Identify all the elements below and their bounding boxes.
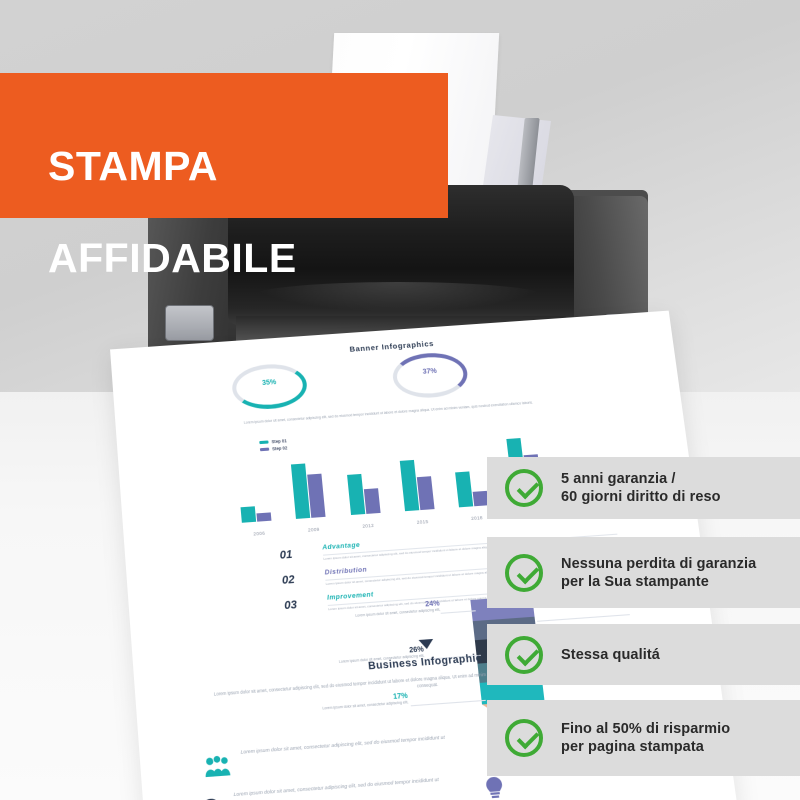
benefit-line-1a: 5 anni garanzia / bbox=[561, 471, 676, 487]
step-number-02: 02 bbox=[281, 574, 295, 587]
bar-step-01 bbox=[240, 506, 256, 523]
bar-step-01 bbox=[455, 471, 473, 507]
bar-year-label: 2009 bbox=[291, 525, 336, 533]
bar-step-02 bbox=[364, 488, 381, 514]
pencil-leader-right-1 bbox=[537, 614, 630, 622]
bar-year-label: 2006 bbox=[237, 529, 282, 537]
benefit-box-2[interactable]: Nessuna perdita di garanzia per la Sua s… bbox=[487, 537, 800, 608]
benefit-line-4a: Fino al 50% di risparmio bbox=[561, 721, 730, 737]
step-heading-01: Advantage bbox=[322, 542, 360, 552]
check-circle-icon bbox=[505, 719, 543, 757]
benefit-line-3a: Stessa qualitá bbox=[561, 647, 660, 663]
people-group-icon bbox=[203, 753, 232, 779]
benefit-text-2: Nessuna perdita di garanzia per la Sua s… bbox=[561, 555, 756, 591]
headline-line-2: AFFIDABILE bbox=[48, 235, 297, 281]
check-circle-icon bbox=[505, 469, 543, 507]
benefit-line-2a: Nessuna perdita di garanzia bbox=[561, 556, 756, 572]
benefit-box-4[interactable]: Fino al 50% di risparmio per pagina stam… bbox=[487, 700, 800, 776]
bar-step-01 bbox=[347, 474, 365, 515]
benefit-line-1b: 60 giorni diritto di reso bbox=[561, 489, 721, 505]
bar-step-02 bbox=[307, 473, 325, 518]
donut-chart-1: 35% bbox=[230, 362, 308, 411]
clock-phone-icon bbox=[196, 796, 225, 800]
bar-step-01 bbox=[400, 460, 420, 512]
headline-line-1: STAMPA bbox=[48, 143, 218, 189]
feature-text-1: Lorem ipsum dolor sit amet, consectetur … bbox=[240, 734, 460, 757]
check-circle-icon bbox=[505, 554, 543, 592]
poster-canvas: Banner Infographics 35% 37% Lorem ipsum … bbox=[0, 0, 800, 800]
benefit-box-3[interactable]: Stessa qualitá bbox=[487, 624, 800, 685]
check-circle-icon bbox=[505, 636, 543, 674]
benefit-line-4b: per pagina stampata bbox=[561, 739, 704, 755]
feature-block-3: Lorem ipsum dolor sit amet, consectetur … bbox=[196, 776, 459, 795]
bar-year-label: 2015 bbox=[400, 518, 445, 526]
bar-step-02 bbox=[417, 476, 435, 510]
feature-text-3: Lorem ipsum dolor sit amet, consectetur … bbox=[233, 777, 454, 800]
lightbulb-icon bbox=[480, 775, 510, 800]
bar-group bbox=[236, 520, 281, 523]
benefit-text-1: 5 anni garanzia / 60 giorni diritto di r… bbox=[561, 470, 721, 506]
step-heading-02: Distribution bbox=[324, 566, 367, 576]
bar-group bbox=[290, 516, 335, 519]
printer-lid-gloss bbox=[248, 282, 548, 312]
benefit-text-4: Fino al 50% di risparmio per pagina stam… bbox=[561, 720, 730, 756]
bar-group bbox=[345, 512, 390, 515]
benefit-box-1[interactable]: 5 anni garanzia / 60 giorni diritto di r… bbox=[487, 457, 800, 519]
headline-text: STAMPA AFFIDABILE bbox=[48, 97, 297, 281]
bar-step-01 bbox=[291, 464, 310, 519]
bar-step-02 bbox=[256, 512, 271, 522]
feature-block-1: Lorem ipsum dolor sit amet, consectetur … bbox=[203, 734, 465, 753]
down-arrow-icon bbox=[419, 639, 434, 650]
step-number-03: 03 bbox=[284, 599, 298, 613]
printer-power-button[interactable] bbox=[165, 305, 214, 341]
benefit-text-3: Stessa qualitá bbox=[561, 646, 660, 664]
bar-year-label: 2012 bbox=[345, 522, 390, 530]
bar-group bbox=[399, 508, 444, 511]
donut-chart-2: 37% bbox=[391, 351, 470, 400]
headline-banner: STAMPA AFFIDABILE bbox=[0, 73, 448, 218]
step-number-01: 01 bbox=[279, 548, 293, 561]
pencil-leader-3 bbox=[411, 700, 486, 707]
benefit-line-2b: per la Sua stampante bbox=[561, 574, 709, 590]
